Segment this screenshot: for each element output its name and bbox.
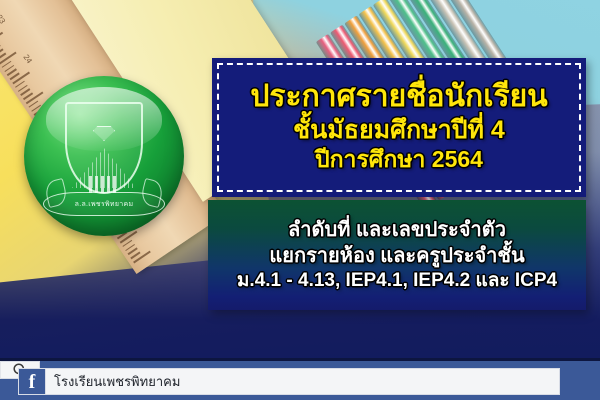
headline-line-1: ประกาศรายชื่อนักเรียน — [250, 80, 547, 115]
ruler-tick — [0, 32, 3, 44]
subtitle-line-3: ม.4.1 - 4.13, IEP4.1, IEP4.2 และ ICP4 — [237, 270, 557, 293]
subtitle-panel: ลำดับที่ และเลขประจำตัว แยกรายห้อง และคร… — [208, 200, 586, 310]
facebook-icon[interactable]: f — [18, 368, 46, 395]
poster-stage: 232425262728 ล.ล.เพชรพิทยาคม ประกาศรายชื… — [0, 0, 600, 400]
subtitle-line-2: แยกรายห้อง และครูประจำชั้น — [269, 244, 524, 268]
emblem-ribbon: ล.ล.เพชรพิทยาคม — [43, 192, 165, 216]
emblem-ribbon-text: ล.ล.เพชรพิทยาคม — [75, 199, 134, 210]
school-emblem: ล.ล.เพชรพิทยาคม — [24, 76, 184, 236]
shield-icon — [65, 102, 143, 194]
facebook-page-search-input[interactable]: โรงเรียนเพชรพิทยาคม — [46, 368, 560, 395]
ruler-tick — [133, 251, 150, 263]
subtitle-line-1: ลำดับที่ และเลขประจำตัว — [288, 218, 506, 242]
facebook-bar: f โรงเรียนเพชรพิทยาคม — [0, 358, 600, 400]
ruler-number: 23 — [0, 13, 7, 25]
headline-line-3: ปีการศึกษา 2564 — [315, 146, 483, 173]
headline-panel: ประกาศรายชื่อนักเรียน ชั้นมัธยมศึกษาปีที… — [212, 58, 586, 197]
headline-line-2: ชั้นมัธยมศึกษาปีที่ 4 — [293, 116, 505, 145]
bars-decoration — [89, 176, 119, 193]
diamond-icon — [93, 126, 115, 141]
ruler-number: 24 — [21, 53, 33, 65]
